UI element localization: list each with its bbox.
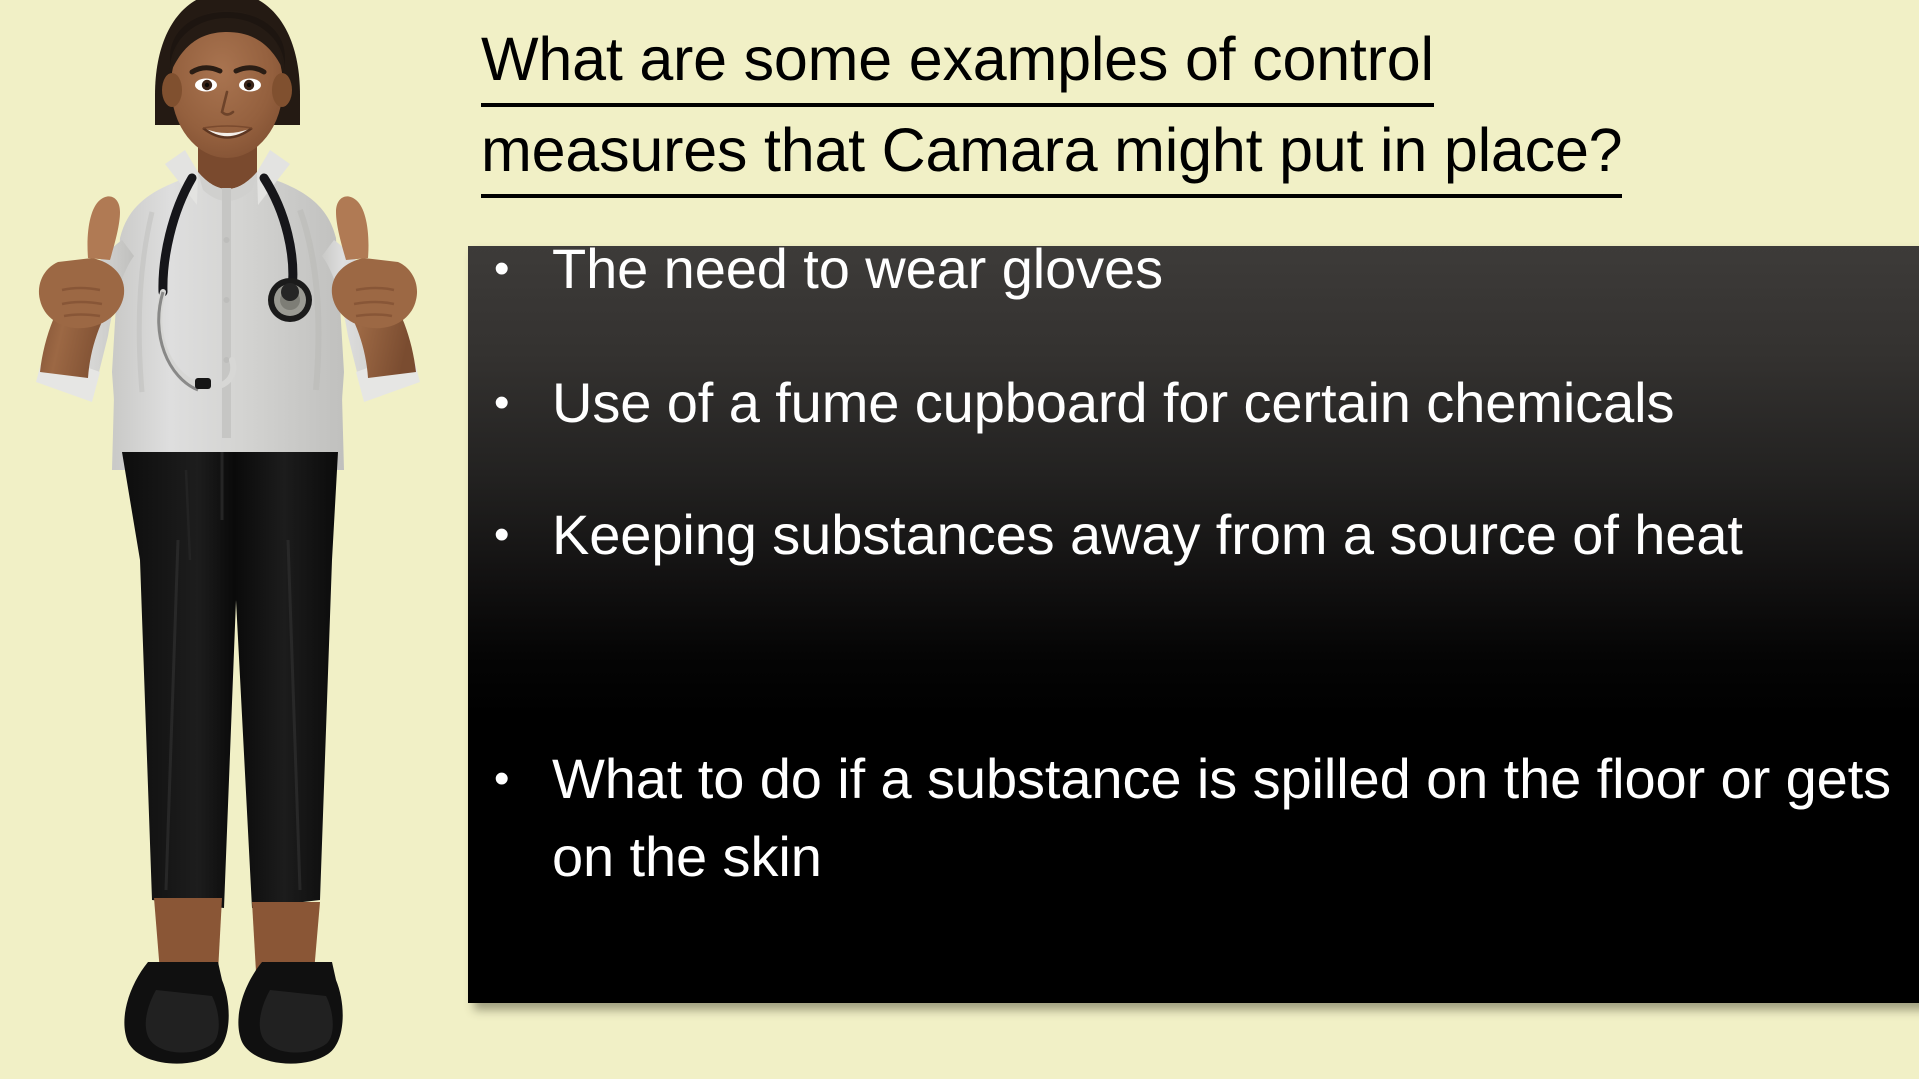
bullet-text: The need to wear gloves bbox=[552, 246, 1918, 308]
bullet-point-icon: • bbox=[488, 740, 552, 818]
bullet-point-icon: • bbox=[488, 496, 552, 574]
bullet-point-icon: • bbox=[488, 246, 552, 308]
slide-title: What are some examples of control measur… bbox=[481, 16, 1821, 198]
list-item: • What to do if a substance is spilled o… bbox=[488, 740, 1918, 896]
list-item: • Keeping substances away from a source … bbox=[488, 496, 1918, 574]
answers-panel: • The need to wear gloves • Use of a fum… bbox=[468, 246, 1919, 1003]
bullet-point-icon: • bbox=[488, 364, 552, 442]
page-title-line-1: What are some examples of control bbox=[481, 16, 1434, 107]
bullet-text: Keeping substances away from a source of… bbox=[552, 496, 1918, 574]
slide-canvas: What are some examples of control measur… bbox=[0, 0, 1919, 1079]
list-item: • The need to wear gloves bbox=[488, 246, 1918, 308]
bullet-text: Use of a fume cupboard for certain chemi… bbox=[552, 364, 1918, 442]
bullet-text: What to do if a substance is spilled on … bbox=[552, 740, 1918, 896]
person-illustration bbox=[0, 0, 460, 1079]
presenter-photo bbox=[0, 0, 460, 1079]
list-item: • Use of a fume cupboard for certain che… bbox=[488, 364, 1918, 442]
page-title-line-2: measures that Camara might put in place? bbox=[481, 107, 1622, 198]
